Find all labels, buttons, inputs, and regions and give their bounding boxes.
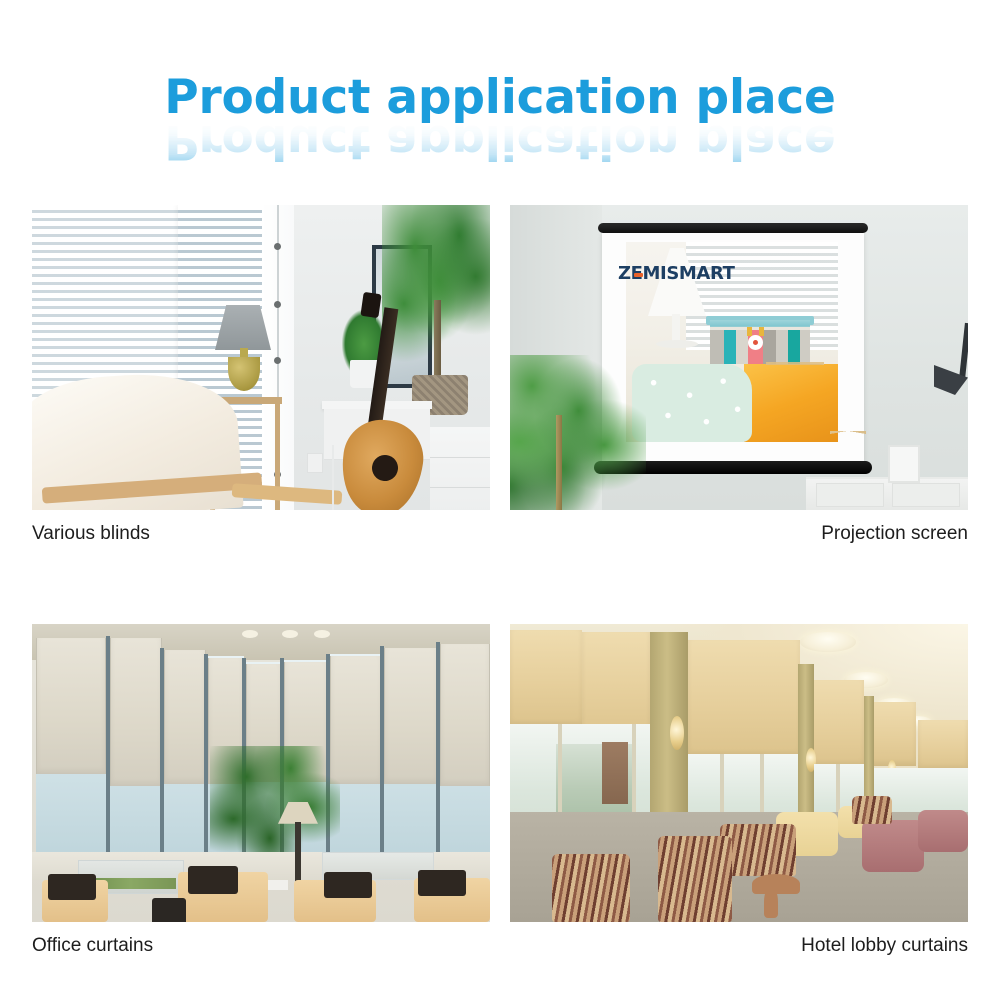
roller-shade[interactable]: [510, 630, 582, 726]
projected-toy-eye: [753, 340, 758, 345]
photo-various-blinds[interactable]: [32, 205, 490, 510]
window-mullion: [436, 642, 440, 872]
caption-projection-screen: Projection screen: [510, 510, 968, 546]
window-mullion: [204, 654, 208, 884]
striped-armchair: [658, 836, 732, 922]
projection-screen-top-bar: [598, 223, 868, 233]
ceiling-downlight-icon: [282, 630, 298, 638]
ceiling-downlight-icon: [314, 630, 330, 638]
gallery-item-office-curtains[interactable]: Office curtains: [32, 624, 490, 958]
roller-blind[interactable]: [440, 644, 490, 786]
wall-sconce: [670, 716, 684, 750]
page-header: Product application place Product applic…: [0, 0, 1000, 165]
cord-bead-icon: [274, 243, 281, 250]
wall-outlet: [307, 453, 323, 473]
sideboard-drawer: [816, 483, 884, 507]
roller-shade[interactable]: [868, 702, 916, 766]
indoor-tree-trunk: [556, 415, 562, 510]
projected-mint-pillow: [632, 364, 752, 442]
rose-armchair: [918, 810, 968, 852]
cord-bead-icon: [274, 357, 281, 364]
window-mullion: [380, 646, 384, 876]
projected-dried-wheat: [766, 362, 824, 442]
cabinet-drawer-line: [430, 457, 490, 458]
white-cabinet: [430, 427, 490, 510]
chair-cushion: [48, 874, 96, 900]
indoor-tree: [510, 355, 646, 510]
roller-shade[interactable]: [918, 720, 968, 770]
chair-cushion: [418, 870, 466, 896]
photo-hotel-lobby-curtains[interactable]: [510, 624, 968, 922]
photo-office-curtains[interactable]: [32, 624, 490, 922]
row-spacer: [32, 546, 968, 624]
projected-lamp-base: [656, 340, 698, 348]
pendant-light: [800, 632, 856, 652]
page-title: Product application place: [0, 74, 1000, 121]
chair-cushion: [324, 872, 372, 898]
cord-bead-icon: [274, 301, 281, 308]
tree-trunk: [434, 300, 441, 382]
gallery-item-various-blinds[interactable]: Various blinds: [32, 205, 490, 546]
dried-wheat-vase: [830, 431, 866, 483]
cabinet-drawer-line: [430, 487, 490, 488]
chair-cushion: [188, 866, 238, 894]
page-title-reflection: Product application place: [0, 123, 1000, 165]
roller-blind[interactable]: [110, 638, 162, 786]
rose-armchair: [862, 820, 924, 872]
gallery-row-1: Various blinds: [32, 205, 968, 546]
power-cable: [332, 445, 334, 510]
window-mullion: [106, 636, 110, 866]
desk-lamp-arm: [959, 323, 968, 379]
exterior-brick-wall: [602, 742, 628, 804]
application-place-gallery: Various blinds: [32, 205, 968, 958]
photo-projection-screen[interactable]: ZEMISMART: [510, 205, 968, 510]
roller-blind[interactable]: [384, 648, 438, 784]
sideboard-drawer: [892, 483, 960, 507]
striped-armchair: [552, 854, 630, 922]
projected-lamp-stem: [672, 314, 680, 342]
gallery-item-projection-screen[interactable]: ZEMISMART Projection screen: [510, 205, 968, 546]
roller-blind[interactable]: [164, 650, 206, 784]
side-table: [152, 898, 186, 922]
striped-armchair: [852, 796, 892, 824]
caption-various-blinds: Various blinds: [32, 510, 490, 546]
roller-shade[interactable]: [688, 640, 800, 756]
caption-hotel-lobby-curtains: Hotel lobby curtains: [510, 922, 968, 958]
table-pedestal: [764, 886, 778, 918]
ceiling-downlight-icon: [242, 630, 258, 638]
guitar-headstock: [360, 292, 381, 318]
picture-frame: [888, 445, 920, 483]
window-mullion: [160, 648, 164, 878]
roller-blind[interactable]: [36, 638, 106, 774]
gallery-item-hotel-lobby-curtains[interactable]: Hotel lobby curtains: [510, 624, 968, 958]
zemismart-logo-accent-icon: [634, 273, 643, 277]
caption-office-curtains: Office curtains: [32, 922, 490, 958]
gallery-row-2: Office curtains: [32, 624, 968, 958]
